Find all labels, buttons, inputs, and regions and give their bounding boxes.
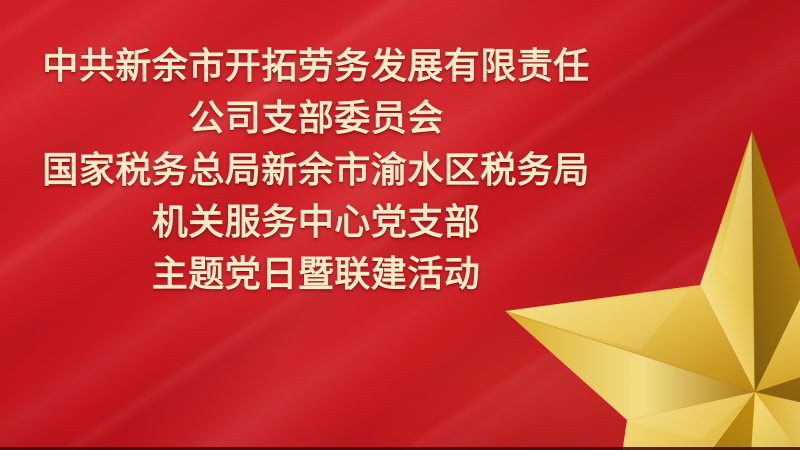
party-event-poster: 中共新余市开拓劳务发展有限责任 公司支部委员会 国家税务总局新余市渝水区税务局 … [0, 0, 800, 450]
headline-line-5: 主题党日暨联建活动 [0, 256, 632, 292]
poster-headline-block: 中共新余市开拓劳务发展有限责任 公司支部委员会 国家税务总局新余市渝水区税务局 … [0, 0, 632, 292]
headline-line-1: 中共新余市开拓劳务发展有限责任 [0, 48, 632, 84]
headline-line-3: 国家税务总局新余市渝水区税务局 [0, 152, 632, 188]
headline-line-2: 公司支部委员会 [0, 100, 632, 136]
headline-line-4: 机关服务中心党支部 [0, 204, 632, 240]
